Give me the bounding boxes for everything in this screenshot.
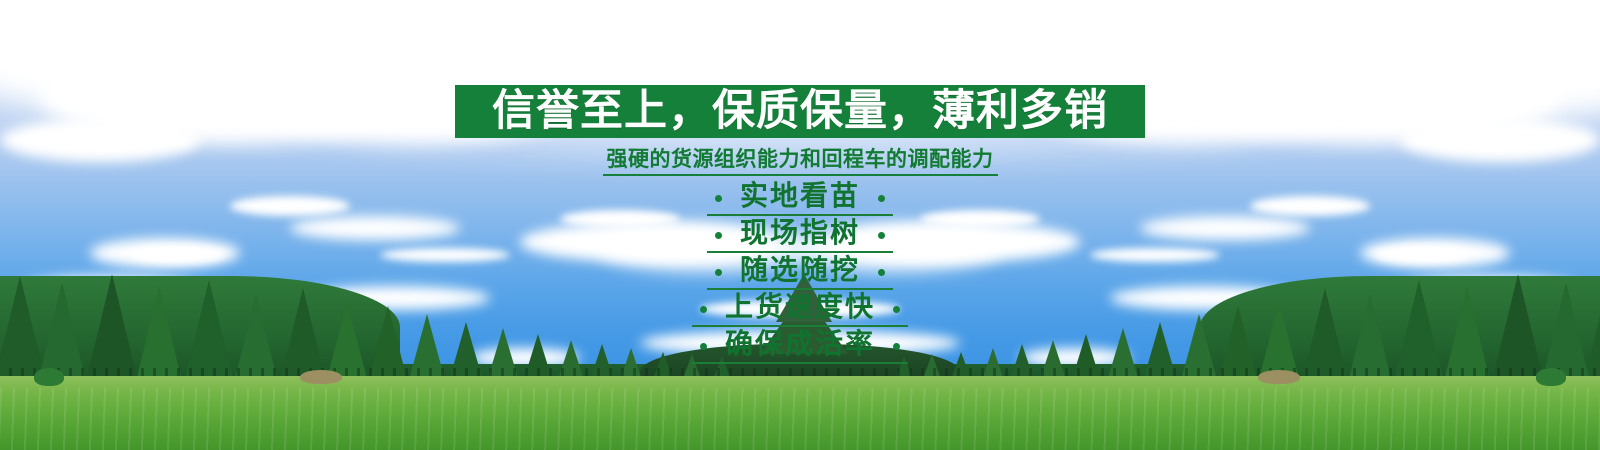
- feature-label: 现场指树: [740, 218, 860, 248]
- feature-label: 实地看苗: [740, 181, 860, 211]
- feature-item: 确保成活率: [0, 328, 1600, 365]
- feature-list: 实地看苗 现场指树 随选随挖: [0, 180, 1600, 365]
- promo-banner: 信誉至上，保质保量，薄利多销 强硬的货源组织能力和回程车的调配能力 实地看苗 现…: [0, 0, 1600, 450]
- feature-label: 随选随挖: [740, 255, 860, 285]
- subtitle-text: 强硬的货源组织能力和回程车的调配能力: [603, 146, 998, 176]
- feature-item: 随选随挖: [0, 254, 1600, 291]
- feature-item: 上货速度快: [0, 291, 1600, 328]
- headline-bar: 信誉至上，保质保量，薄利多销: [455, 85, 1145, 138]
- headline-text: 信誉至上，保质保量，薄利多销: [492, 90, 1108, 133]
- bullet-dot-icon: [700, 343, 707, 350]
- bullet-dot-icon: [878, 195, 885, 202]
- feature-label: 上货速度快: [725, 292, 875, 322]
- bullet-dot-icon: [893, 343, 900, 350]
- bullet-dot-icon: [878, 232, 885, 239]
- bullet-dot-icon: [715, 232, 722, 239]
- subtitle-row: 强硬的货源组织能力和回程车的调配能力: [0, 146, 1600, 176]
- feature-item: 现场指树: [0, 217, 1600, 254]
- bullet-dot-icon: [715, 269, 722, 276]
- bullet-dot-icon: [878, 269, 885, 276]
- feature-label: 确保成活率: [725, 329, 875, 359]
- bullet-dot-icon: [893, 306, 900, 313]
- feature-item: 实地看苗: [0, 180, 1600, 217]
- bullet-dot-icon: [715, 195, 722, 202]
- bullet-dot-icon: [700, 306, 707, 313]
- banner-content: 信誉至上，保质保量，薄利多销 强硬的货源组织能力和回程车的调配能力 实地看苗 现…: [0, 0, 1600, 450]
